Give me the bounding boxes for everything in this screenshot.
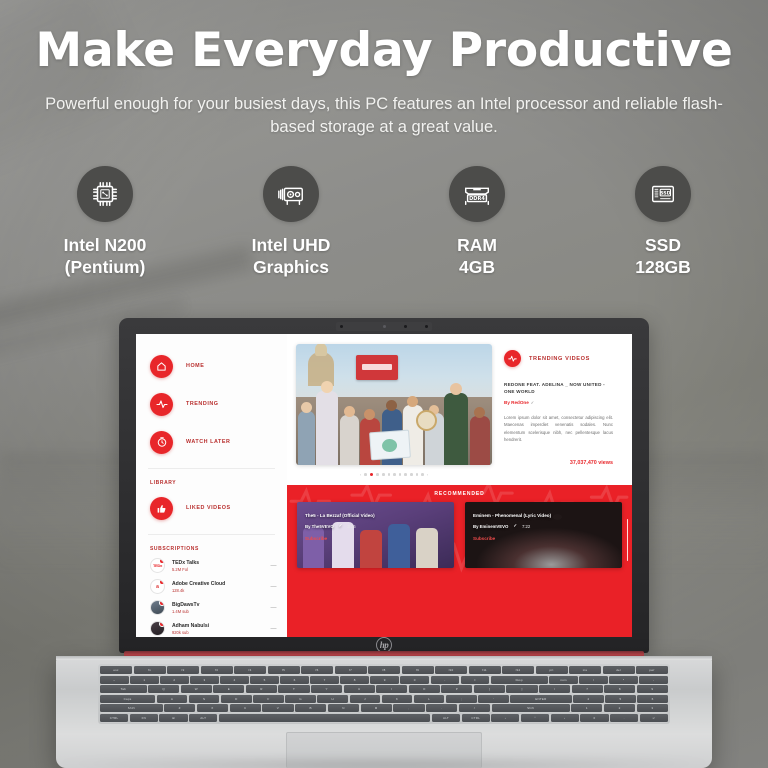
sidebar-item-watch-later[interactable]: WATCH LATER [136,423,287,461]
channel-name: Adham Nabulsi [172,623,271,629]
page-title: Make Everyday Productive [0,26,768,76]
key-f10[interactable]: f10 [435,666,467,674]
key-space[interactable]: ‹ [491,714,519,722]
channel-count: 5.2M Fol [172,567,271,572]
key-v[interactable]: V [262,704,293,712]
key-r[interactable]: R [246,685,277,693]
key-f8[interactable]: f8 [368,666,400,674]
row-menu-icon[interactable]: — [271,626,278,632]
key-j[interactable]: J [350,695,381,703]
key-num[interactable]: num [549,676,578,684]
cpu-chip-icon [77,166,133,222]
row-menu-icon[interactable]: — [271,563,278,569]
avatar [150,621,165,636]
key-u[interactable]: U [344,685,375,693]
key-0[interactable]: 0 [400,676,429,684]
avatar [150,600,165,615]
spec-label-ram: RAM4GB [407,234,547,279]
verified-icon: ✓ [339,523,343,529]
trending-panel: TRENDING VIDEOS REDONE FEAT. ADELINA _ N… [492,344,623,485]
key-4[interactable]: 4 [220,676,249,684]
key-0[interactable]: 0 [580,714,608,722]
graphics-card-icon [263,166,319,222]
key-f6[interactable]: f6 [301,666,333,674]
key-space[interactable]: * [609,676,638,684]
key-space[interactable]: [ [474,685,505,693]
ssd-drive-icon: SSD [635,166,691,222]
key-fn[interactable]: FN [130,714,158,722]
key-space[interactable]: - [639,676,668,684]
key-enter[interactable]: ENTER [510,695,571,703]
avatar: TEDx [150,558,165,573]
key-9[interactable]: 9 [637,685,668,693]
carousel-prev-arrow[interactable]: ‹ [360,472,361,477]
banner-sign [356,355,398,380]
key-4[interactable]: 4 [573,695,604,703]
keyboard-row-number: ~1234567890-=bkspnum/*- [100,676,668,684]
trending-video-author[interactable]: By RedOne✓ [504,400,613,405]
key-q[interactable]: Q [148,685,179,693]
key-2[interactable]: 2 [160,676,189,684]
key-x[interactable]: X [197,704,228,712]
keyboard-row-home: CapsASDFGHJKL;'ENTER456 [100,695,668,703]
verified-icon: ✓ [531,400,534,405]
ssd-badge-text: SSD [660,191,671,197]
app-main: ‹ › [287,334,632,637]
key-f11[interactable]: f11 [469,666,501,674]
main-top-row: ‹ › [287,334,632,485]
verified-icon: ✓ [513,523,517,529]
key-f2[interactable]: f2 [167,666,199,674]
page-subtitle: Powerful enough for your busiest days, t… [0,93,768,140]
key-g[interactable]: G [285,695,316,703]
sidebar-item-liked-videos[interactable]: LIKED VIDEOS [136,489,287,527]
key-6[interactable]: 6 [280,676,309,684]
key-f12[interactable]: f12 [502,666,534,674]
channel-name: TEDx Talks [172,560,271,566]
laptop-screen: HOME TRENDING [136,334,632,637]
key-9[interactable]: 9 [370,676,399,684]
key-del[interactable]: del [603,666,635,674]
key-f4[interactable]: f4 [234,666,266,674]
trending-title: TRENDING VIDEOS [529,356,590,362]
key-5[interactable]: 5 [250,676,279,684]
base-top-edge [56,656,712,660]
laptop-base: escf1f2f3f4f5f6f7f8f9f10f11f12prtinsdelp… [56,656,712,768]
app-sidebar: HOME TRENDING [136,334,287,637]
key-shift[interactable]: Shift [492,704,570,712]
key-shift[interactable]: Shift [100,704,163,712]
key-f[interactable]: F [253,695,284,703]
hero-section: Make Everyday Productive Powerful enough… [0,26,768,140]
list-item[interactable]: BigDawsTv 1.4M sub — [136,597,287,618]
key-f5[interactable]: f5 [268,666,300,674]
sidebar-label-liked-videos: LIKED VIDEOS [186,505,231,511]
webcam-module [336,322,432,331]
spec-label-graphics: Intel UHDGraphics [221,234,361,279]
key-space[interactable]: / [459,704,490,712]
key-space[interactable]: › [551,714,579,722]
keyboard-row-qwerty: TabQWERTYUIOP[]\789 [100,685,668,693]
key-space[interactable]: \ [539,685,570,693]
carousel-dot-active [370,473,374,477]
card-duration: 3:26 [347,524,355,529]
ram-module-icon: DDR4 [449,166,505,222]
player-column: ‹ › [296,344,492,485]
keyboard-row-function: escf1f2f3f4f5f6f7f8f9f10f11f12prtinsdelp… [100,666,668,674]
channel-count: 128.4k [172,588,271,593]
key-8[interactable]: 8 [604,685,635,693]
sidebar-divider [148,468,275,469]
key-prt[interactable]: prt [536,666,568,674]
trending-video-description: Lorem ipsum dolor sit amet, consectetur … [504,414,613,444]
key-bksp[interactable]: bksp [491,676,548,684]
clock-icon [150,431,173,454]
key-z[interactable]: Z [164,704,195,712]
key-a[interactable]: A [157,695,188,703]
author-name: By RedOne [504,400,529,405]
key-caps[interactable]: Caps [100,695,155,703]
trending-header: TRENDING VIDEOS [504,350,613,367]
trending-video-views: 37,037,470 views [504,460,613,466]
video-thumbnail [296,344,492,465]
sidebar-label-home: HOME [186,363,204,369]
card-title: Eminem - Phenomenal (Lyric Video) [473,513,614,518]
key-pwr[interactable]: pwr [636,666,668,674]
scrollbar[interactable] [627,519,629,561]
spec-list: Intel N200(Pentium) Intel UHDGraphics [0,166,768,279]
card-author: By The5VEVO [305,524,334,529]
key-alt[interactable]: ALT [432,714,460,722]
key-3[interactable]: 3 [190,676,219,684]
key-y[interactable]: Y [311,685,342,693]
key-p[interactable]: P [441,685,472,693]
key-8[interactable]: 8 [340,676,369,684]
key-esc[interactable]: esc [100,666,132,674]
row-menu-icon[interactable]: — [271,605,278,611]
key-c[interactable]: C [230,704,261,712]
list-item[interactable]: TEDx TEDx Talks 5.2M Fol — [136,555,287,576]
key-o[interactable]: O [409,685,440,693]
key-6[interactable]: 6 [637,695,668,703]
key-h[interactable]: H [317,695,348,703]
key-space[interactable]: / [579,676,608,684]
key-i[interactable]: I [376,685,407,693]
key-space[interactable]: ' [478,695,509,703]
trending-icon [150,393,173,416]
key-space[interactable]: . [426,704,457,712]
key-3[interactable]: 3 [637,704,668,712]
trending-video-title: REDONE FEAT. ADELINA _ NOW UNITED - ONE … [504,382,613,396]
card-duration: 7:22 [522,524,530,529]
channel-count: 920k sub [172,630,271,635]
key-5[interactable]: 5 [605,695,636,703]
recommended-card[interactable]: The5 - La Bezzaf (Official Video) By The… [297,502,454,568]
key-ctrl[interactable]: CTRL [462,714,490,722]
key-b[interactable]: B [295,704,326,712]
spec-item-ssd: SSD SSD128GB [593,166,733,279]
spec-item-graphics: Intel UHDGraphics [221,166,361,279]
key-space[interactable]: ↵ [640,714,668,722]
key-7[interactable]: 7 [310,676,339,684]
key-space[interactable]: - [431,676,460,684]
key-s[interactable]: S [189,695,220,703]
sidebar-section-library: LIBRARY [136,476,287,489]
card-author: By EminemVEVO [473,524,508,529]
key-space[interactable]: ~ [100,676,129,684]
key-7[interactable]: 7 [572,685,603,693]
key-e[interactable]: E [213,685,244,693]
key-ins[interactable]: ins [569,666,601,674]
channel-name: Adobe Creative Cloud [172,581,271,587]
keyboard-row-shift: ShiftZXCVBNM,./Shift123 [100,704,668,712]
ram-badge-text: DDR4 [469,196,485,202]
channel-name: BigDawsTv [172,602,271,608]
key-space[interactable]: ; [446,695,477,703]
key-space[interactable]: ⊞ [159,714,187,722]
thumbs-up-icon [150,497,173,520]
key-ctrl[interactable]: CTRL [100,714,128,722]
key-space[interactable]: . [610,714,638,722]
row-menu-icon[interactable]: — [271,584,278,590]
key-m[interactable]: M [361,704,392,712]
sidebar-label-watch-later: WATCH LATER [186,439,230,445]
key-f1[interactable]: f1 [134,666,166,674]
card-title: The5 - La Bezzaf (Official Video) [305,513,446,518]
sidebar-item-trending[interactable]: TRENDING [136,385,287,423]
recommended-card[interactable]: Eminem - Phenomenal (Lyric Video) By Emi… [465,502,622,568]
key-w[interactable]: W [181,685,212,693]
spec-label-ssd: SSD128GB [593,234,733,279]
sidebar-label-trending: TRENDING [186,401,219,407]
key-f9[interactable]: f9 [402,666,434,674]
laptop-shadow [46,762,722,768]
key-1[interactable]: 1 [571,704,602,712]
recommended-section: RECOMMENDED The5 - La Bezzaf [287,485,632,637]
key-k[interactable]: K [382,695,413,703]
home-icon [150,355,173,378]
key-d[interactable]: D [221,695,252,703]
key-1[interactable]: 1 [130,676,159,684]
list-item[interactable]: Adham Nabulsi 920k sub — [136,618,287,637]
key-space[interactable]: ⌃ [521,714,549,722]
tambourine [416,410,437,431]
key-l[interactable]: L [414,695,445,703]
video-player[interactable] [296,344,492,465]
key-alt[interactable]: ALT [189,714,217,722]
recommended-card-list: The5 - La Bezzaf (Official Video) By The… [297,502,622,568]
trending-icon [504,350,521,367]
sidebar-section-subscriptions: SUBSCRIPTIONS [136,542,287,555]
carousel-next-arrow[interactable]: › [427,472,428,477]
sidebar-item-home[interactable]: HOME [136,347,287,385]
spec-item-cpu: Intel N200(Pentium) [35,166,175,279]
carousel-pagination[interactable]: ‹ › [296,465,492,485]
spec-label-cpu: Intel N200(Pentium) [35,234,175,279]
key-space[interactable]: = [461,676,490,684]
keyboard[interactable]: escf1f2f3f4f5f6f7f8f9f10f11f12prtinsdelp… [98,664,670,724]
key-space[interactable] [219,714,431,722]
list-item[interactable]: a Adobe Creative Cloud 128.4k — [136,576,287,597]
key-t[interactable]: T [278,685,309,693]
key-n[interactable]: N [328,704,359,712]
channel-count: 1.4M sub [172,609,271,614]
key-tab[interactable]: Tab [100,685,147,693]
keyboard-row-control: CTRLFN⊞ALTALTCTRL‹⌃›0.↵ [100,714,668,722]
key-space[interactable]: , [393,704,424,712]
key-f7[interactable]: f7 [335,666,367,674]
spec-item-ram: DDR4 RAM4GB [407,166,547,279]
recommended-title: RECOMMENDED [297,491,622,497]
subscribe-button[interactable]: Subscribe [305,536,446,541]
key-f3[interactable]: f3 [201,666,233,674]
sidebar-divider [148,534,275,535]
child-placard [369,430,411,461]
key-2[interactable]: 2 [604,704,635,712]
video-app: HOME TRENDING [136,334,632,637]
subscribe-button[interactable]: Subscribe [473,536,614,541]
avatar: a [150,579,165,594]
key-space[interactable]: ] [506,685,537,693]
